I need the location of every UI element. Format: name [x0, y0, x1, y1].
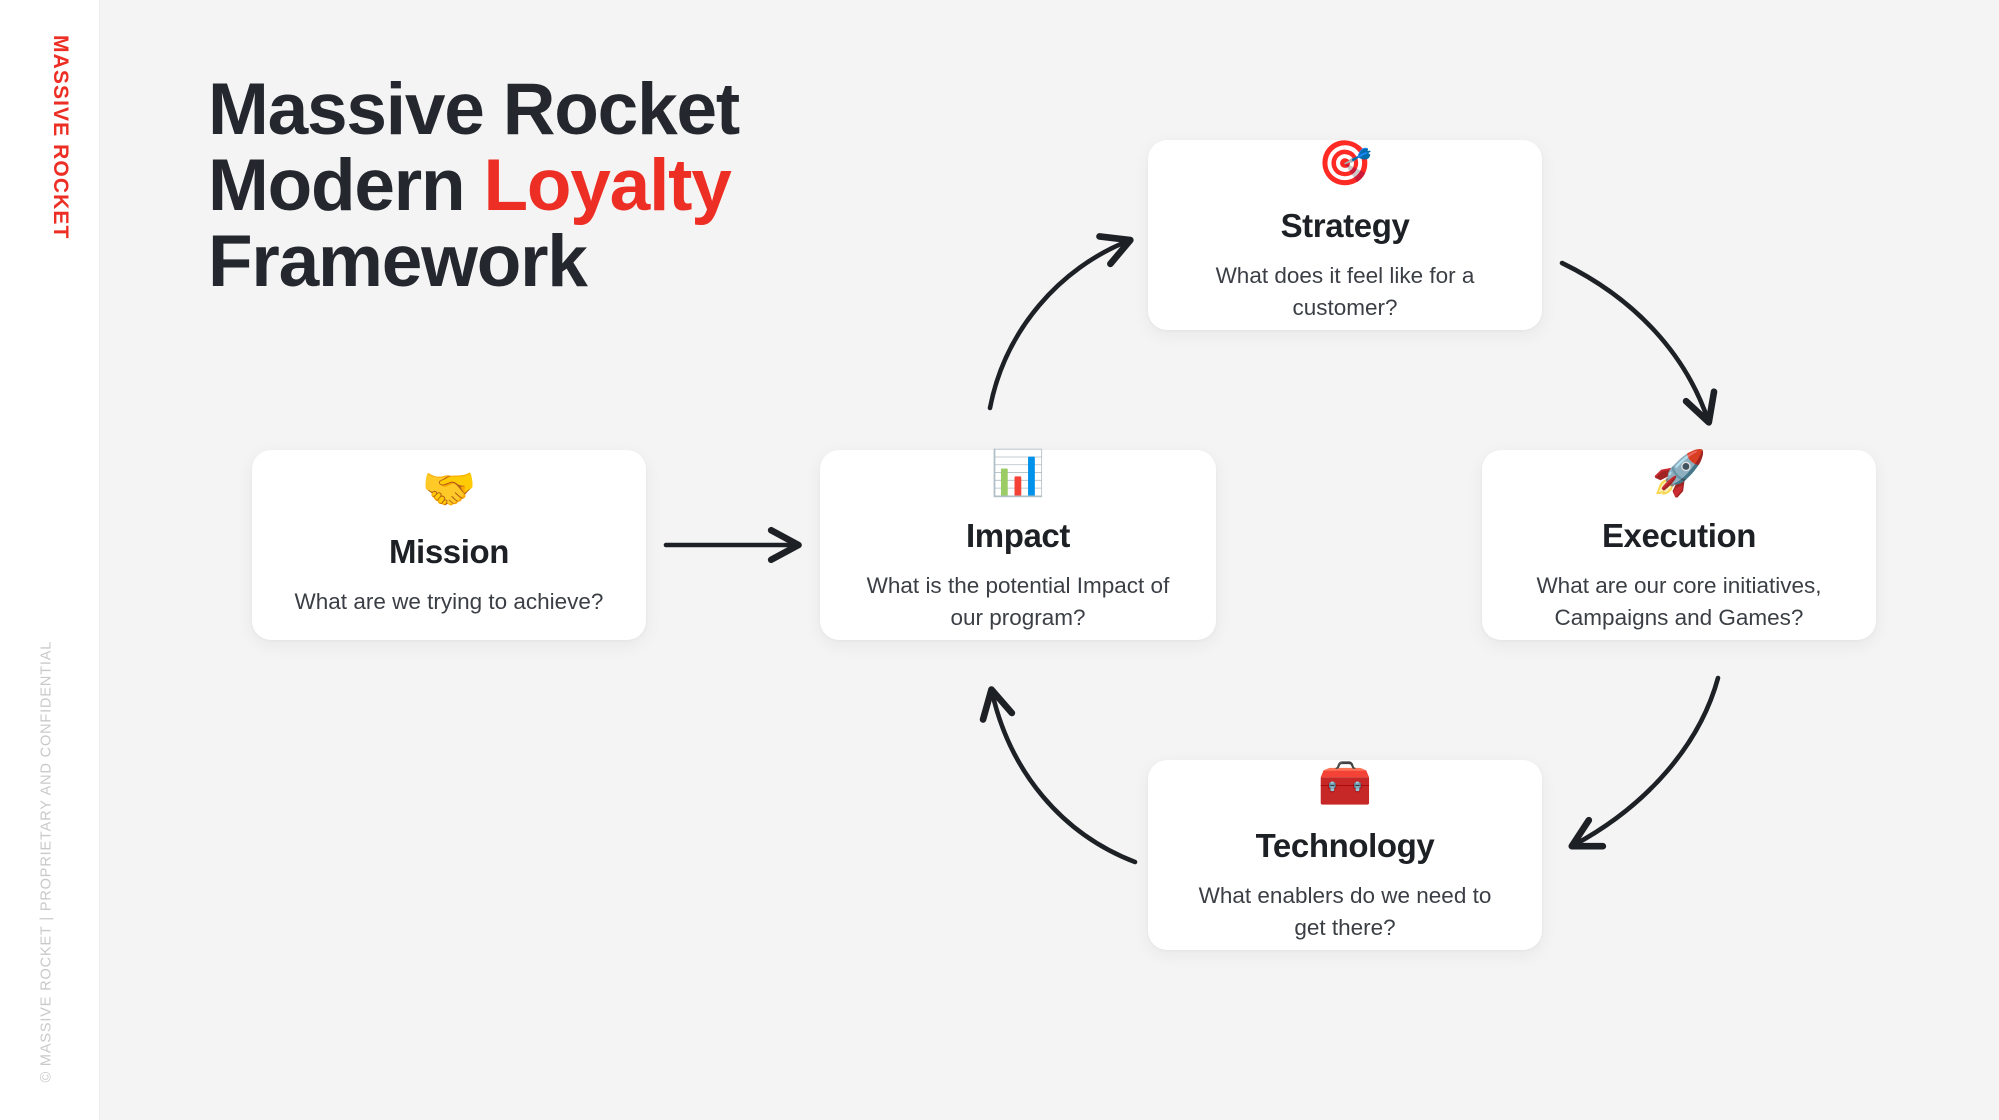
- title-line-2-plain: Modern: [208, 145, 483, 226]
- confidentiality-footer: © MASSIVE ROCKET | PROPRIETARY AND CONFI…: [40, 640, 55, 1082]
- title-line-1: Massive Rocket: [208, 69, 739, 150]
- brand-wordmark: MASSIVE ROCKET: [50, 35, 71, 239]
- bar-chart-icon: 📊: [991, 452, 1046, 496]
- left-sidebar: MASSIVE ROCKET © MASSIVE ROCKET | PROPRI…: [0, 0, 100, 1120]
- arrow-impact-to-strategy: [990, 241, 1128, 408]
- node-desc-execution: What are our core initiatives, Campaigns…: [1514, 570, 1844, 634]
- arrow-execution-to-technology: [1574, 678, 1718, 845]
- page-title: Massive Rocket Modern Loyalty Framework: [208, 72, 848, 300]
- node-desc-impact: What is the potential Impact of our prog…: [853, 570, 1183, 634]
- node-card-impact[interactable]: 📊 Impact What is the potential Impact of…: [820, 450, 1216, 640]
- node-card-mission[interactable]: 🤝 Mission What are we trying to achieve?: [252, 450, 646, 640]
- title-line-2-accent: Loyalty: [483, 145, 730, 226]
- node-desc-mission: What are we trying to achieve?: [295, 586, 604, 618]
- node-title-execution: Execution: [1602, 518, 1756, 554]
- slide-canvas: Massive Rocket Modern Loyalty Framework …: [100, 0, 1999, 1120]
- arrow-strategy-to-execution: [1562, 263, 1708, 420]
- node-title-strategy: Strategy: [1281, 208, 1410, 244]
- node-title-technology: Technology: [1256, 828, 1435, 864]
- node-title-impact: Impact: [966, 518, 1070, 554]
- node-title-mission: Mission: [389, 534, 509, 570]
- toolbox-icon: 🧰: [1318, 762, 1373, 806]
- node-card-execution[interactable]: 🚀 Execution What are our core initiative…: [1482, 450, 1876, 640]
- dart-target-icon: 🎯: [1318, 142, 1373, 186]
- node-card-technology[interactable]: 🧰 Technology What enablers do we need to…: [1148, 760, 1542, 950]
- arrow-technology-to-impact: [992, 692, 1135, 862]
- title-line-3: Framework: [208, 221, 587, 302]
- handshake-icon: 🤝: [422, 468, 477, 512]
- node-card-strategy[interactable]: 🎯 Strategy What does it feel like for a …: [1148, 140, 1542, 330]
- node-desc-strategy: What does it feel like for a customer?: [1180, 260, 1510, 324]
- rocket-icon: 🚀: [1652, 452, 1707, 496]
- node-desc-technology: What enablers do we need to get there?: [1180, 880, 1510, 944]
